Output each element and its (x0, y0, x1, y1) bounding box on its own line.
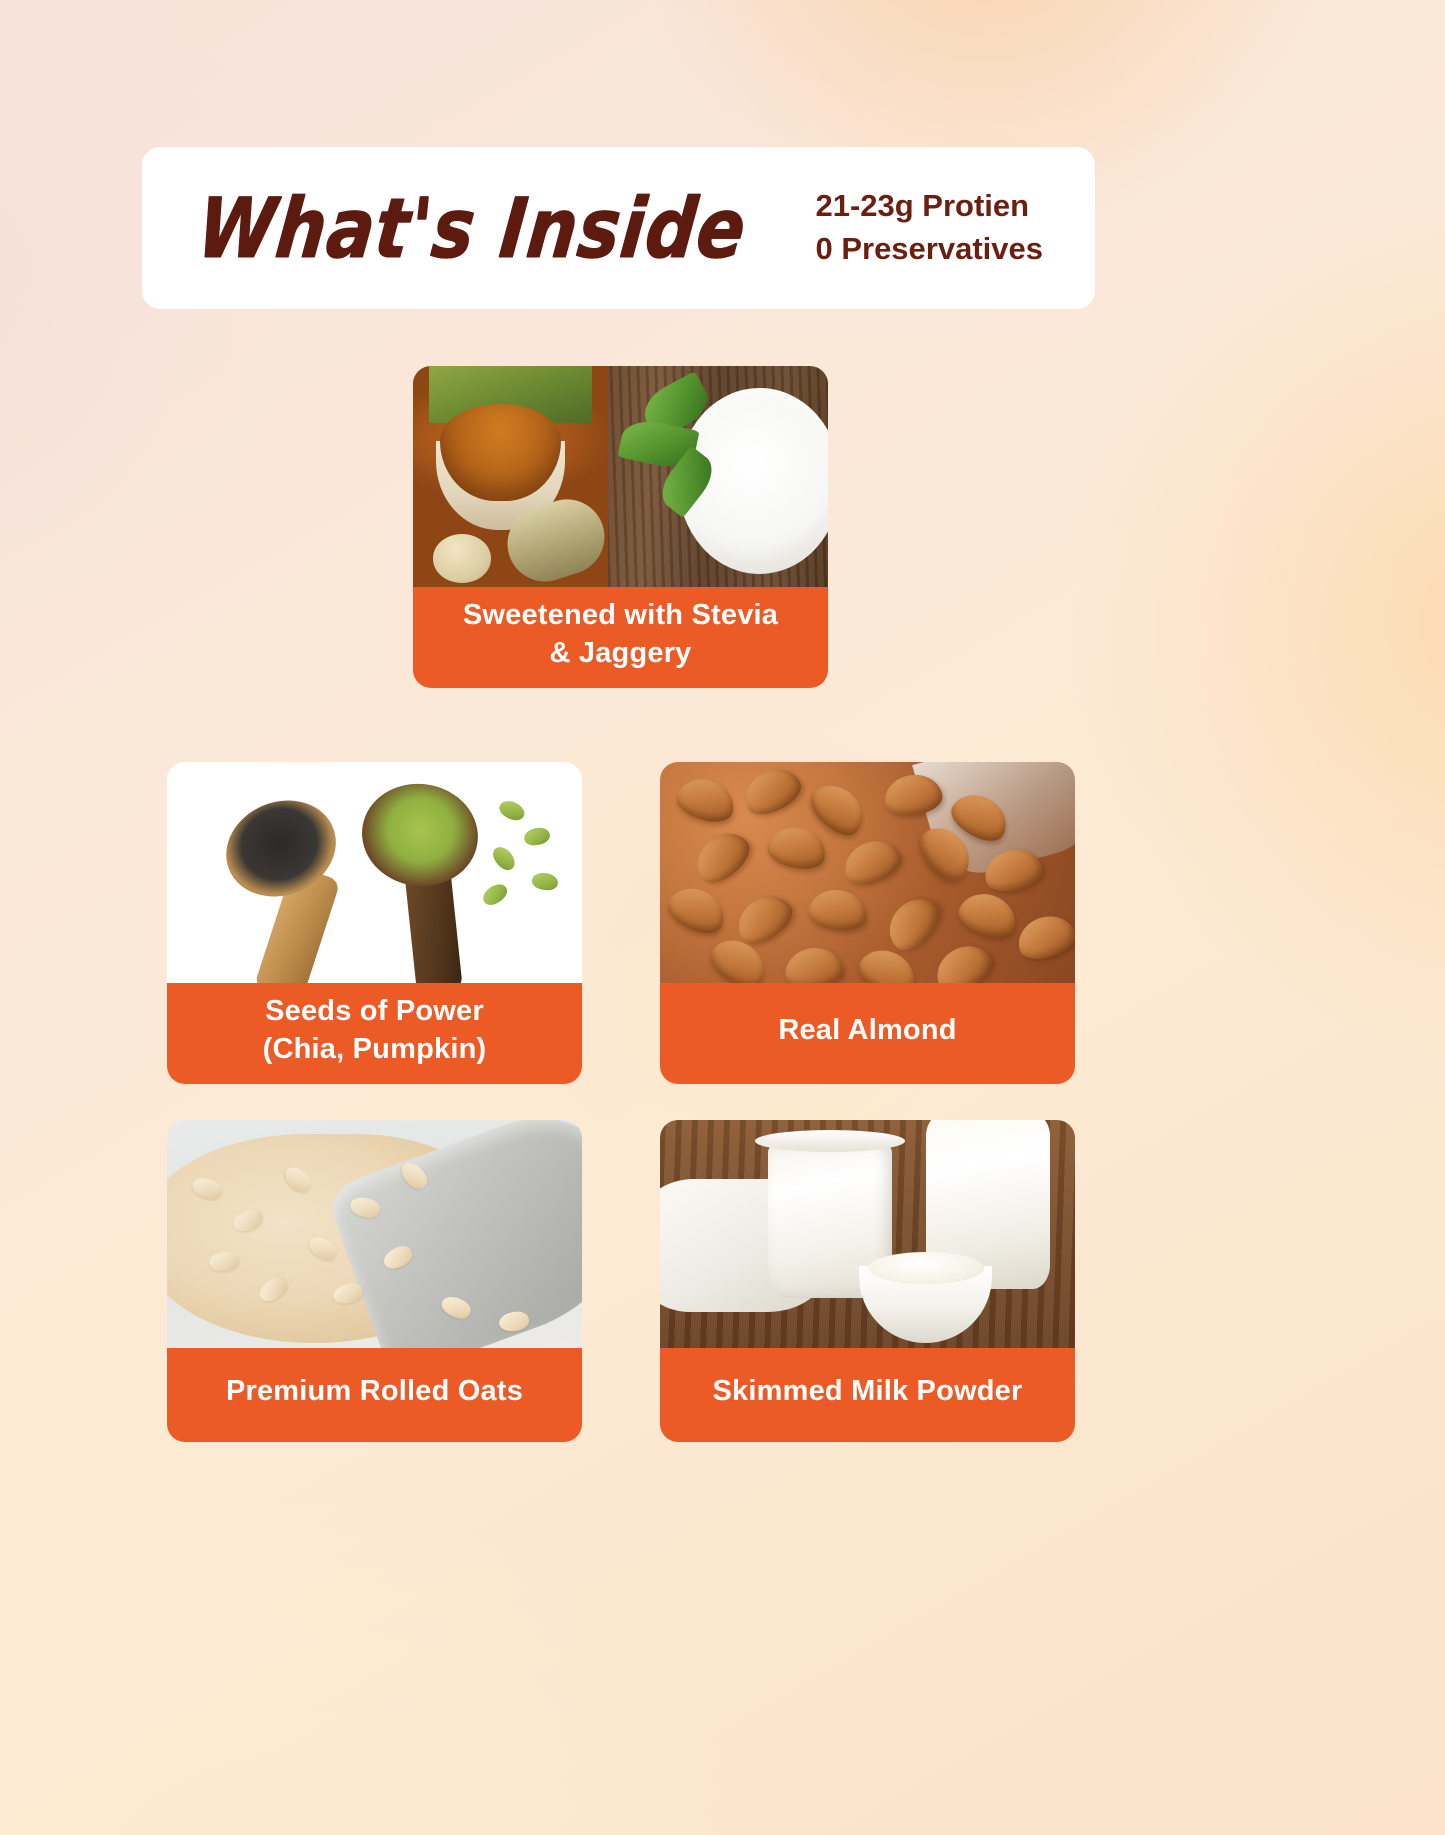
ingredient-image-sweetener (413, 366, 828, 587)
caption-line-2: & Jaggery (549, 637, 691, 669)
jaggery-lump-shape (433, 534, 492, 583)
almond-icon (928, 936, 998, 983)
caption-line-1: Seeds of Power (265, 995, 484, 1027)
almond-icon (837, 832, 906, 891)
milk-photo (660, 1120, 1075, 1348)
milk-powder-mound (868, 1252, 984, 1284)
jaggery-photo (413, 366, 608, 587)
caption-line-2: (Chia, Pumpkin) (263, 1033, 487, 1065)
ingredient-caption-sweetener: Sweetened with Stevia & Jaggery (413, 587, 828, 688)
seeds-photo (167, 762, 582, 983)
almond-icon (954, 886, 1022, 943)
almond-photo (660, 762, 1075, 983)
almond-icon (807, 886, 870, 934)
ingredient-card-almond[interactable]: Real Almond (660, 762, 1075, 1084)
ingredient-card-seeds[interactable]: Seeds of Power (Chia, Pumpkin) (167, 762, 582, 1084)
caption-line-1: Real Almond (778, 1012, 956, 1049)
pumpkin-seed-icon (497, 797, 528, 823)
ingredient-card-oats[interactable]: Premium Rolled Oats (167, 1120, 582, 1442)
fact-preservatives: 0 Preservatives (815, 232, 1043, 267)
almond-icon (1012, 909, 1075, 965)
pumpkin-seed-icon (522, 826, 551, 848)
pumpkin-seed-icon (531, 871, 559, 891)
page-title: What's Inside (194, 187, 750, 270)
pumpkin-seed-icon (489, 843, 519, 874)
ingredient-caption-seeds: Seeds of Power (Chia, Pumpkin) (167, 983, 582, 1084)
ingredient-image-seeds (167, 762, 582, 983)
almond-icon (687, 823, 757, 891)
ingredient-card-milk[interactable]: Skimmed Milk Powder (660, 1120, 1075, 1442)
almond-icon (672, 772, 740, 828)
almond-icon (879, 889, 948, 959)
ingredient-image-oats (167, 1120, 582, 1348)
fact-protein: 21-23g Protien (815, 189, 1043, 224)
caption-line-1: Premium Rolled Oats (226, 1373, 523, 1410)
almond-icon (737, 762, 807, 822)
ingredient-caption-milk: Skimmed Milk Powder (660, 1348, 1075, 1442)
caption-line-1: Skimmed Milk Powder (713, 1373, 1023, 1410)
oats-photo (167, 1120, 582, 1348)
almond-icon (803, 774, 873, 843)
almond-icon (764, 823, 829, 874)
pumpkin-seed-icon (480, 880, 511, 909)
ingredient-caption-oats: Premium Rolled Oats (167, 1348, 582, 1442)
header-banner: What's Inside 21-23g Protien 0 Preservat… (142, 147, 1095, 309)
header-facts-list: 21-23g Protien 0 Preservatives (815, 189, 1043, 266)
ingredient-card-sweetener[interactable]: Sweetened with Stevia & Jaggery (413, 366, 828, 688)
ingredient-image-milk (660, 1120, 1075, 1348)
ingredient-caption-almond: Real Almond (660, 983, 1075, 1084)
stevia-photo (608, 366, 828, 587)
ingredient-image-almond (660, 762, 1075, 983)
caption-line-1: Sweetened with Stevia (463, 599, 778, 631)
pumpkin-seed-spoon (356, 777, 485, 894)
almond-icon (783, 945, 845, 983)
almond-icon (662, 879, 732, 940)
whats-inside-infographic: What's Inside 21-23g Protien 0 Preservat… (0, 0, 1445, 1835)
